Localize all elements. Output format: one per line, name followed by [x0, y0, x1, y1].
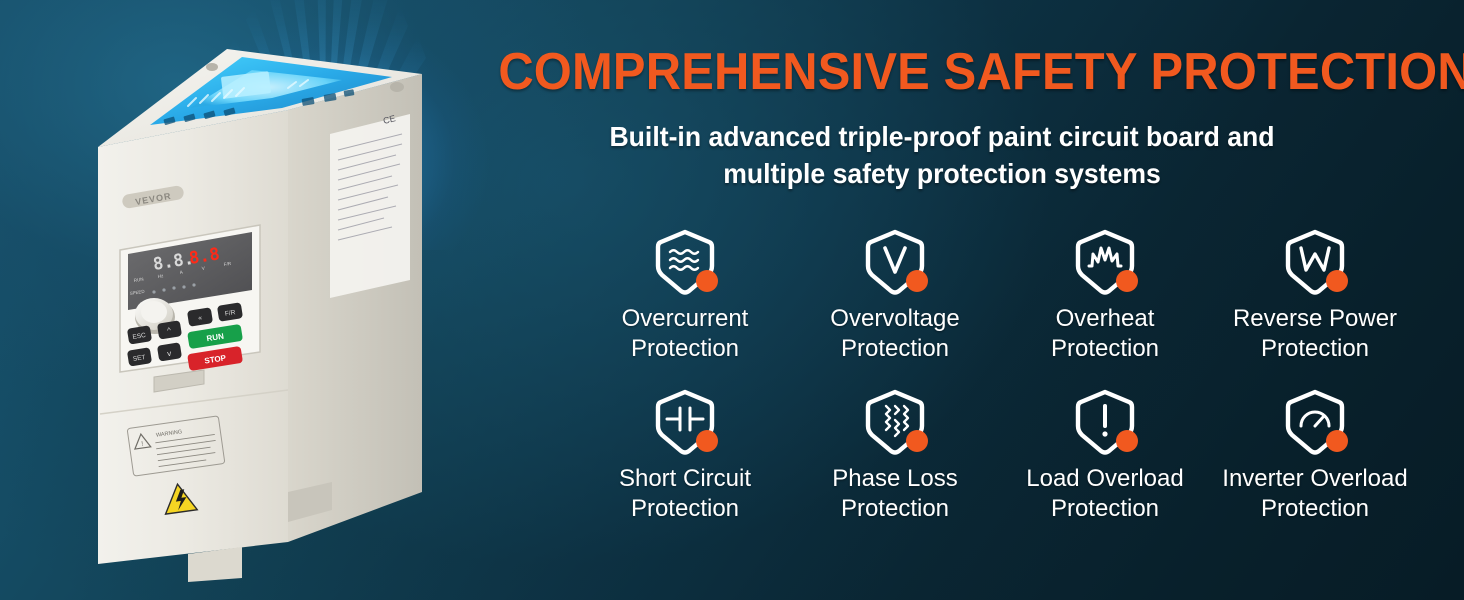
accent-dot [906, 270, 928, 292]
feature-label-line2: Protection [622, 334, 749, 364]
feature-label: Inverter Overload Protection [1222, 464, 1407, 524]
feature-label-line1: Inverter Overload [1222, 465, 1407, 492]
accent-dot [1116, 270, 1138, 292]
feature-label: Load Overload Protection [1026, 464, 1183, 524]
feature-label-line2: Protection [1233, 334, 1397, 364]
shield-badge [1282, 388, 1348, 458]
feature-label-line1: Short Circuit [619, 465, 751, 492]
feature-load-overload: Load Overload Protection [1000, 388, 1210, 548]
spec-sticker: CE [330, 113, 410, 298]
shield-badge [652, 388, 718, 458]
shield-badge [1072, 228, 1138, 298]
shield-badge [862, 228, 928, 298]
feature-label: Phase Loss Protection [832, 464, 957, 524]
feature-label-line2: Protection [1051, 334, 1159, 364]
feature-grid: Overcurrent Protection Overvoltage Prote… [580, 228, 1420, 548]
feature-label: Reverse Power Protection [1233, 304, 1397, 364]
shield-badge [1282, 228, 1348, 298]
accent-dot [1326, 270, 1348, 292]
shield-badge [1072, 388, 1138, 458]
feature-label-line2: Protection [832, 494, 957, 524]
feature-short-circuit: Short Circuit Protection [580, 388, 790, 548]
shield-badge [862, 388, 928, 458]
accent-dot [696, 270, 718, 292]
subtitle-line-1: Built-in advanced triple-proof paint cir… [609, 121, 1274, 152]
shield-badge [652, 228, 718, 298]
accent-dot [906, 430, 928, 452]
accent-dot [1116, 430, 1138, 452]
control-panel: 8.8. 8.8 RUN Hz A V F/R SPEED [120, 225, 260, 372]
feature-label: Short Circuit Protection [619, 464, 751, 524]
page-title: COMPREHENSIVE SAFETY PROTECTIONS [498, 44, 1385, 100]
feature-inverter-overload: Inverter Overload Protection [1210, 388, 1420, 548]
accent-dot [696, 430, 718, 452]
feature-phase-loss: Phase Loss Protection [790, 388, 1000, 548]
feature-label-line1: Overvoltage [830, 305, 959, 332]
feature-label-line1: Overheat [1056, 305, 1155, 332]
feature-label-line2: Protection [1026, 494, 1183, 524]
feature-label-line1: Overcurrent [622, 305, 749, 332]
feature-label: Overvoltage Protection [830, 304, 959, 364]
feature-label-line1: Phase Loss [832, 465, 957, 492]
feature-reverse-power: Reverse Power Protection [1210, 228, 1420, 388]
feature-label-line1: Reverse Power [1233, 305, 1397, 332]
feature-label: Overheat Protection [1051, 304, 1159, 364]
feature-overvoltage: Overvoltage Protection [790, 228, 1000, 388]
feature-overheat: Overheat Protection [1000, 228, 1210, 388]
feature-label: Overcurrent Protection [622, 304, 749, 364]
banner-content: COMPREHENSIVE SAFETY PROTECTIONS Built-i… [470, 0, 1464, 600]
vfd-product-image: VEVOR 8.8. 8.8 RUN Hz A V F/R [92, 22, 472, 582]
feature-overcurrent: Overcurrent Protection [580, 228, 790, 388]
feature-label-line2: Protection [619, 494, 751, 524]
feature-label-line2: Protection [830, 334, 959, 364]
accent-dot [1326, 430, 1348, 452]
safety-protections-banner: VEVOR 8.8. 8.8 RUN Hz A V F/R [0, 0, 1464, 600]
feature-label-line2: Protection [1222, 494, 1407, 524]
feature-label-line1: Load Overload [1026, 465, 1183, 492]
subtitle-line-2: multiple safety protection systems [494, 155, 1391, 192]
page-subtitle: Built-in advanced triple-proof paint cir… [494, 118, 1391, 192]
